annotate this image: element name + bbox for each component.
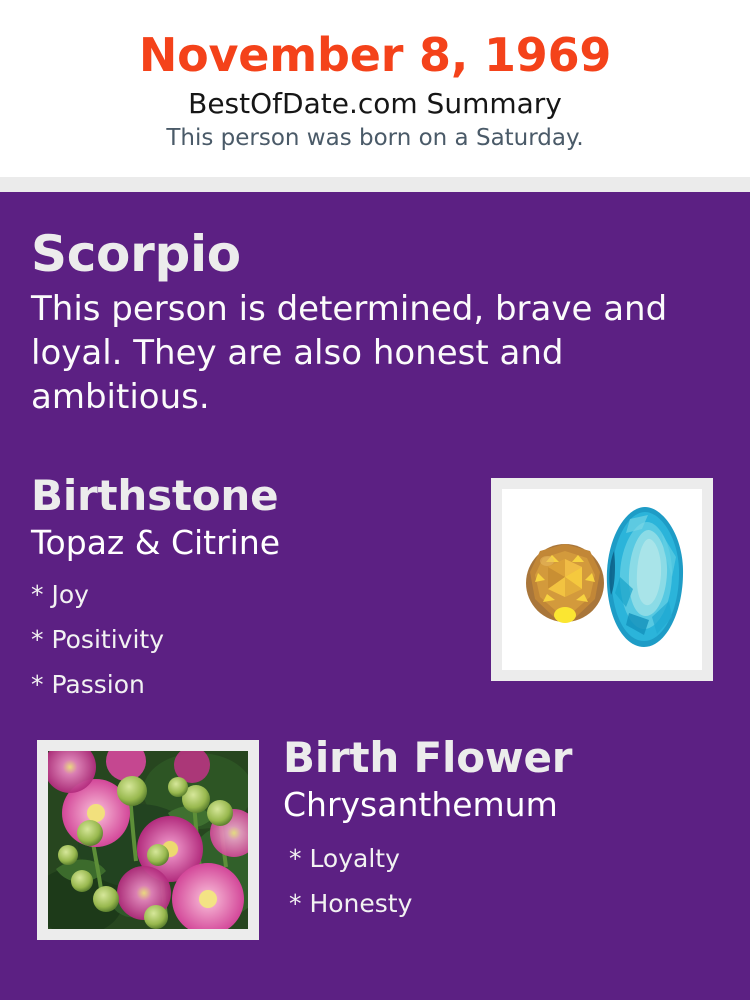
birthstone-section: Birthstone Topaz & Citrine * Joy * Posit… bbox=[0, 470, 750, 685]
summary-card: November 8, 1969 BestOfDate.com Summary … bbox=[0, 0, 750, 1000]
birthflower-name: Chrysanthemum bbox=[283, 784, 733, 826]
chrysanthemum-illustration bbox=[48, 751, 248, 929]
birthflower-section: Birth Flower Chrysanthemum * Loyalty * H… bbox=[0, 732, 750, 947]
birthflower-image bbox=[48, 751, 248, 929]
list-item: * Positivity bbox=[31, 617, 471, 662]
birthstone-text-block: Birthstone Topaz & Citrine * Joy * Posit… bbox=[31, 470, 471, 707]
birthstone-name: Topaz & Citrine bbox=[31, 522, 471, 564]
birthstone-title: Birthstone bbox=[31, 470, 471, 522]
zodiac-sign-title: Scorpio bbox=[31, 223, 701, 285]
site-name: BestOfDate.com Summary bbox=[0, 86, 750, 122]
birthflower-title: Birth Flower bbox=[283, 732, 733, 784]
birthflower-traits-list: * Loyalty * Honesty bbox=[283, 836, 733, 926]
birthstone-traits-list: * Joy * Positivity * Passion bbox=[31, 572, 471, 707]
list-item: * Loyalty bbox=[289, 836, 733, 881]
content-body: Scorpio This person is determined, brave… bbox=[0, 192, 750, 1000]
gemstone-illustration bbox=[502, 489, 702, 670]
list-item: * Joy bbox=[31, 572, 471, 617]
birthflower-text-block: Birth Flower Chrysanthemum * Loyalty * H… bbox=[283, 732, 733, 926]
zodiac-description: This person is determined, brave and loy… bbox=[31, 287, 691, 419]
birthflower-image-frame bbox=[37, 740, 259, 940]
header-divider bbox=[0, 177, 750, 192]
birth-day-note: This person was born on a Saturday. bbox=[0, 123, 750, 154]
birthstone-image-frame bbox=[491, 478, 713, 681]
header: November 8, 1969 BestOfDate.com Summary … bbox=[0, 0, 750, 177]
list-item: * Honesty bbox=[289, 881, 733, 926]
birthstone-image bbox=[502, 489, 702, 670]
page-title: November 8, 1969 bbox=[0, 26, 750, 84]
list-item: * Passion bbox=[31, 662, 471, 707]
zodiac-section: Scorpio This person is determined, brave… bbox=[31, 223, 701, 419]
